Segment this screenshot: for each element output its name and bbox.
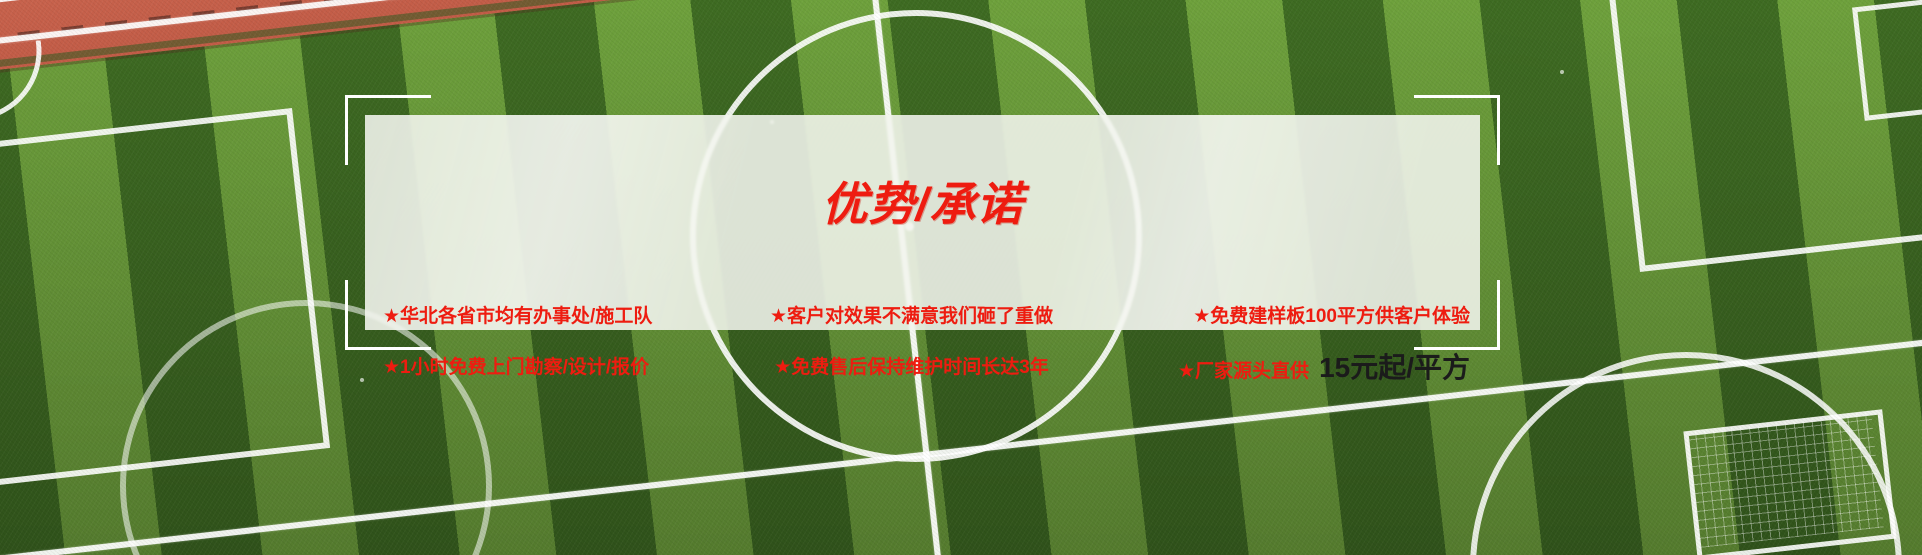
advantage-text: ★1小时免费上门勘察/设计/报价: [383, 358, 649, 379]
advantages-row: ★华北各省市均有办事处/施工队 ★客户对效果不满意我们砸了重做 ★免费建样板10…: [383, 307, 1470, 328]
price-text: 15元起/平方: [1319, 354, 1470, 382]
advantage-cell: ★华北各省市均有办事处/施工队: [383, 307, 683, 328]
advantage-cell: ★厂家源头直供 15元起/平方: [1140, 354, 1470, 383]
advantage-cell: ★免费售后保持维护时间长达3年: [762, 358, 1062, 379]
advantage-cell: ★客户对效果不满意我们砸了重做: [762, 307, 1062, 328]
advantage-cell: ★免费建样板100平方供客户体验: [1140, 307, 1470, 328]
advantage-text: ★厂家源头直供: [1178, 362, 1309, 383]
page-title: 优势/承诺: [345, 181, 1500, 227]
advantage-text: ★华北各省市均有办事处/施工队: [383, 307, 652, 328]
advantages-list: ★华北各省市均有办事处/施工队 ★客户对效果不满意我们砸了重做 ★免费建样板10…: [383, 307, 1470, 383]
advantage-text: ★客户对效果不满意我们砸了重做: [770, 307, 1053, 328]
promo-panel: 优势/承诺 ★华北各省市均有办事处/施工队 ★客户对效果不满意我们砸了重做 ★免…: [345, 95, 1500, 350]
banner-stage: 优势/承诺 ★华北各省市均有办事处/施工队 ★客户对效果不满意我们砸了重做 ★免…: [0, 0, 1922, 555]
advantage-text: ★免费售后保持维护时间长达3年: [774, 358, 1049, 379]
advantage-cell: ★1小时免费上门勘察/设计/报价: [383, 358, 683, 379]
advantages-row: ★1小时免费上门勘察/设计/报价 ★免费售后保持维护时间长达3年 ★厂家源头直供…: [383, 354, 1470, 383]
advantage-text: ★免费建样板100平方供客户体验: [1193, 307, 1470, 328]
